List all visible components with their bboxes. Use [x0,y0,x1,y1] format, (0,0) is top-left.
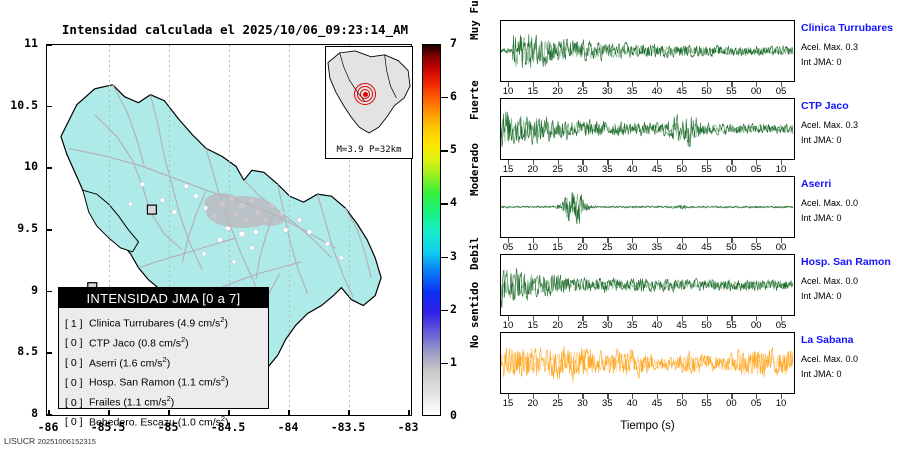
map-x-tick-mark [48,410,50,416]
trace-tick-label: 05 [744,398,768,409]
trace-tick-label: 30 [595,320,619,331]
legend-station-row: [ 0 ]Aserri (1.6 cm/s2) [65,352,268,372]
trace-tick-label: 50 [670,398,694,409]
map-x-tick-mark [408,410,410,416]
trace-tick-label: 55 [744,242,768,253]
time-axis-label: Tiempo (s) [500,420,795,432]
colorbar-tick-mark [441,310,448,311]
trace-time-axis: 051015202530354045505500 [500,238,795,254]
trace-tick-label: 05 [769,320,793,331]
footer-agency: LISUCR [4,436,35,446]
inset-location-map[interactable] [325,46,413,144]
legend-intensity-bracket: [ 0 ] [65,375,89,391]
trace-int-jma: Int JMA: 0 [801,57,842,67]
legend-station-name: Aserri (1.6 cm/s [89,357,163,369]
trace-tick-label: 25 [595,242,619,253]
colorbar-category-label: Fuerte [468,80,481,120]
colorbar-tick-label: 1 [450,355,472,369]
magnitude-depth-caption: M=3.9 P=32km [325,141,413,159]
trace-tick-label: 55 [719,86,743,97]
trace-tick-label: 15 [521,320,545,331]
legend-paren-close: ) [185,337,189,349]
map-x-tick-label: -83 [378,420,438,434]
trace-tick-label: 45 [670,86,694,97]
map-y-tick-label: 9.5 [0,221,38,235]
map-y-tick-mark [46,291,52,293]
trace-tick-label: 00 [719,398,743,409]
trace-tick-label: 30 [570,164,594,175]
trace-tick-label: 55 [695,164,719,175]
page-title: Intensidad calculada el 2025/10/06_09:23… [0,22,470,37]
map-y-tick-mark [46,167,52,169]
trace-tick-label: 45 [645,398,669,409]
map-x-tick-label: -83.5 [318,420,378,434]
trace-tick-label: 15 [496,164,520,175]
trace-tick-label: 00 [769,242,793,253]
footer-code: 20251006152315 [38,437,96,446]
colorbar-tick-label: 4 [450,195,472,209]
trace-tick-label: 20 [546,86,570,97]
trace-station-name: CTP Jaco [801,100,849,112]
legend-paren-close: ) [167,357,171,369]
trace-tick-label: 35 [620,86,644,97]
trace-tick-label: 10 [769,164,793,175]
trace-int-jma: Int JMA: 0 [801,213,842,223]
map-y-tick-mark [46,229,52,231]
legend-station-name: CTP Jaco (0.8 cm/s [89,337,181,349]
trace-panel[interactable] [500,332,795,394]
trace-time-axis: 101520253035404550550005 [500,82,795,98]
trace-tick-label: 35 [620,320,644,331]
trace-tick-label: 00 [719,164,743,175]
trace-tick-label: 05 [496,242,520,253]
trace-station-name: Hosp. San Ramon [801,256,891,268]
legend-paren-close: ) [224,318,228,330]
trace-tick-label: 20 [570,242,594,253]
trace-tick-label: 30 [570,398,594,409]
trace-tick-label: 50 [670,164,694,175]
map-gridline [289,45,290,415]
colorbar-tick-mark [441,97,448,98]
legend-station-list: [ 1 ]Clinica Turrubares (4.9 cm/s2)[ 0 ]… [59,308,268,431]
colorbar-category-label: Muy Fuerte [468,0,481,40]
trace-tick-label: 45 [670,320,694,331]
legend-paren-close: ) [225,377,229,389]
trace-tick-label: 15 [496,398,520,409]
map-y-tick-mark [46,352,52,354]
trace-tick-label: 05 [769,86,793,97]
trace-accel-max: Acel. Max. 0.3 [801,120,858,130]
trace-accel-max: Acel. Max. 0.0 [801,276,858,286]
legend-intensity-bracket: [ 0 ] [65,395,89,411]
waveform [501,99,794,159]
trace-panel[interactable] [500,20,795,82]
trace-tick-label: 15 [546,242,570,253]
trace-tick-label: 35 [595,398,619,409]
map-x-tick-mark [348,410,350,416]
waveform-channel [501,192,793,224]
legend-station-row: [ 0 ]CTP Jaco (0.8 cm/s2) [65,332,268,352]
trace-panel[interactable] [500,176,795,238]
map-y-tick-label: 10 [0,159,38,173]
colorbar-tick-mark [441,203,448,204]
trace-panel[interactable] [500,254,795,316]
footer-watermark: LISUCR 20251006152315 [4,436,96,446]
trace-time-axis: 101520253035404550550005 [500,316,795,332]
trace-tick-label: 50 [695,86,719,97]
trace-accel-max: Acel. Max. 0.3 [801,42,858,52]
trace-accel-max: Acel. Max. 0.0 [801,354,858,364]
colorbar-tick-mark [441,150,448,151]
map-y-tick-label: 9 [0,283,38,297]
waveform-channel [501,268,793,307]
waveform-channel [501,34,793,68]
trace-tick-label: 25 [570,320,594,331]
trace-tick-label: 15 [521,86,545,97]
trace-time-axis: 152025303540455055000510 [500,160,795,176]
map-y-tick-label: 8 [0,406,38,420]
waveform [501,333,794,393]
legend-intensity-bracket: [ 0 ] [65,414,89,430]
trace-tick-label: 00 [744,320,768,331]
trace-int-jma: Int JMA: 0 [801,369,842,379]
trace-station-name: Aserri [801,178,831,190]
trace-tick-label: 05 [744,164,768,175]
colorbar-tick-mark [441,257,448,258]
trace-tick-label: 10 [496,86,520,97]
intensity-colorbar [422,44,441,416]
trace-tick-label: 40 [670,242,694,253]
trace-tick-label: 40 [645,320,669,331]
trace-tick-label: 45 [695,242,719,253]
legend-intensity-bracket: [ 1 ] [65,316,89,332]
map-x-tick-mark [288,410,290,416]
trace-time-axis: 152025303540455055000510 [500,394,795,410]
trace-tick-label: 25 [546,398,570,409]
trace-tick-label: 40 [620,164,644,175]
map-y-tick-mark [46,106,52,108]
waveform-channel [501,112,793,147]
legend-paren-close: ) [225,416,229,428]
legend-station-name: Clinica Turrubares (4.9 cm/s [89,318,220,330]
trace-tick-label: 35 [645,242,669,253]
trace-tick-label: 35 [595,164,619,175]
colorbar-tick-mark [441,363,448,364]
colorbar-category-label: Debil [468,237,481,270]
colorbar-tick-label: 0 [450,408,472,422]
trace-panel[interactable] [500,98,795,160]
trace-tick-label: 10 [521,242,545,253]
jma-intensity-legend: INTENSIDAD JMA [0 a 7] [ 1 ]Clinica Turr… [58,287,269,409]
legend-station-name: Bebedero. Escazu (1.0 cm/s [89,416,221,428]
legend-title: INTENSIDAD JMA [0 a 7] [59,288,268,308]
trace-tick-label: 10 [769,398,793,409]
legend-paren-close: ) [171,397,175,409]
legend-intensity-bracket: [ 0 ] [65,335,89,351]
trace-tick-label: 30 [620,242,644,253]
trace-tick-label: 55 [719,320,743,331]
waveform [501,177,794,237]
map-y-tick-label: 10.5 [0,98,38,112]
trace-tick-label: 45 [645,164,669,175]
trace-tick-label: 10 [496,320,520,331]
map-y-tick-mark [46,44,52,46]
trace-tick-label: 55 [695,398,719,409]
waveform [501,21,794,81]
trace-tick-label: 30 [595,86,619,97]
legend-station-row: [ 0 ]Hosp. San Ramon (1.1 cm/s2) [65,371,268,391]
trace-station-name: La Sabana [801,334,854,346]
legend-intensity-bracket: [ 0 ] [65,355,89,371]
trace-accel-max: Acel. Max. 0.0 [801,198,858,208]
legend-station-row: [ 0 ]Bebedero. Escazu (1.0 cm/s2) [65,411,268,431]
trace-tick-label: 50 [719,242,743,253]
trace-int-jma: Int JMA: 0 [801,291,842,301]
trace-tick-label: 40 [620,398,644,409]
colorbar-category-label: Moderado [468,143,481,196]
trace-tick-label: 25 [570,86,594,97]
trace-tick-label: 20 [521,398,545,409]
colorbar-category-label: No sentido [468,282,481,348]
legend-station-name: Frailes (1.1 cm/s [89,397,167,409]
trace-tick-label: 00 [744,86,768,97]
legend-station-name: Hosp. San Ramon (1.1 cm/s [89,377,221,389]
trace-tick-label: 20 [521,164,545,175]
trace-tick-label: 40 [645,86,669,97]
legend-station-row: [ 0 ]Frailes (1.1 cm/s2) [65,391,268,411]
trace-int-jma: Int JMA: 0 [801,135,842,145]
trace-station-name: Clinica Turrubares [801,22,893,34]
epicenter-center-dot [363,92,368,97]
trace-tick-label: 50 [695,320,719,331]
map-y-tick-label: 11 [0,36,38,50]
legend-station-row: [ 1 ]Clinica Turrubares (4.9 cm/s2) [65,312,268,332]
waveform [501,255,794,315]
map-y-tick-label: 8.5 [0,344,38,358]
trace-tick-label: 20 [546,320,570,331]
trace-tick-label: 25 [546,164,570,175]
